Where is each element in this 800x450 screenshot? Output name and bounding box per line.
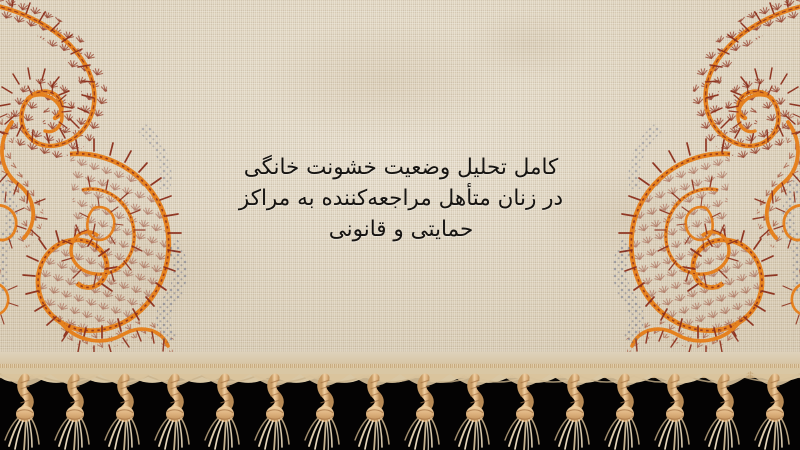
- knotted-tassel-fringe: [0, 368, 800, 450]
- title-line-3: حمایتی و قانونی: [196, 214, 606, 245]
- title-slide: کامل تحلیل وضعیت خشونت خانگی در زنان متأ…: [0, 0, 800, 450]
- title-line-1: کامل تحلیل وضعیت خشونت خانگی: [196, 152, 606, 183]
- title-line-2: در زنان متأهل مراجعه‌کننده به مراکز: [196, 183, 606, 214]
- slide-title: کامل تحلیل وضعیت خشونت خانگی در زنان متأ…: [196, 152, 606, 245]
